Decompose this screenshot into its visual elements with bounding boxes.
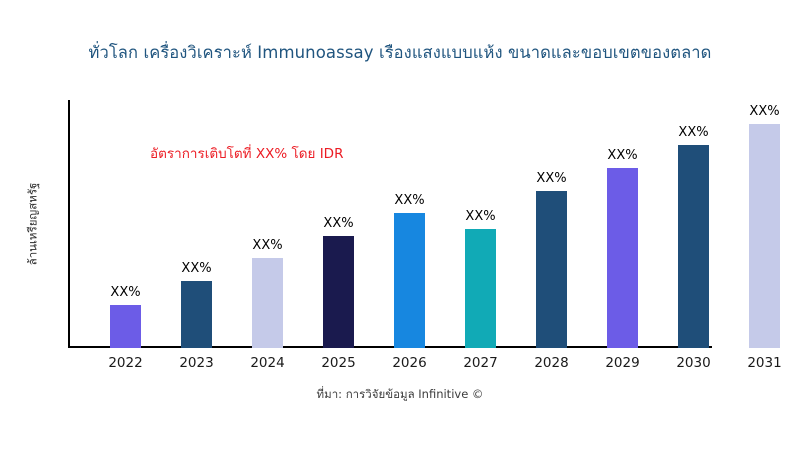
x-tick-2022: 2022 bbox=[96, 355, 156, 371]
x-tick-2027: 2027 bbox=[451, 355, 511, 371]
bar-value-label-2027: XX% bbox=[465, 209, 495, 224]
y-axis-line bbox=[68, 100, 70, 348]
plot-area: อัตราการเติบโตที่ XX% โดย IDR XX%XX%XX%X… bbox=[68, 100, 780, 348]
bar-2026[interactable]: XX% bbox=[394, 213, 425, 348]
bar-value-label-2031: XX% bbox=[749, 104, 779, 119]
bar-value-label-2029: XX% bbox=[607, 148, 637, 163]
x-tick-2028: 2028 bbox=[522, 355, 582, 371]
bar-2023[interactable]: XX% bbox=[181, 281, 212, 348]
bar-2028[interactable]: XX% bbox=[536, 191, 567, 348]
growth-rate-annotation: อัตราการเติบโตที่ XX% โดย IDR bbox=[150, 142, 343, 164]
x-tick-2025: 2025 bbox=[309, 355, 369, 371]
bar-2027[interactable]: XX% bbox=[465, 229, 496, 348]
y-axis-label: ล้านเหรียญสหรัฐ bbox=[24, 183, 42, 266]
bar-2024[interactable]: XX% bbox=[252, 258, 283, 348]
x-tick-2024: 2024 bbox=[238, 355, 298, 371]
chart-title: ทั่วโลก เครื่องวิเคราะห์ Immunoassay เรื… bbox=[0, 40, 800, 66]
y-axis-label-wrapper: ล้านเหรียญสหรัฐ bbox=[18, 100, 48, 348]
bar-value-label-2025: XX% bbox=[323, 216, 353, 231]
x-tick-2023: 2023 bbox=[167, 355, 227, 371]
bar-2030[interactable]: XX% bbox=[678, 145, 709, 348]
source-note: ที่มา: การวิจัยข้อมูล Infinitive © bbox=[0, 386, 800, 404]
x-tick-2026: 2026 bbox=[380, 355, 440, 371]
bar-value-label-2023: XX% bbox=[181, 261, 211, 276]
bar-value-label-2022: XX% bbox=[110, 285, 140, 300]
bar-value-label-2030: XX% bbox=[678, 125, 708, 140]
x-tick-2030: 2030 bbox=[664, 355, 724, 371]
bar-2025[interactable]: XX% bbox=[323, 236, 354, 348]
bar-value-label-2028: XX% bbox=[536, 171, 566, 186]
x-tick-2029: 2029 bbox=[593, 355, 653, 371]
bar-chart-figure: ทั่วโลก เครื่องวิเคราะห์ Immunoassay เรื… bbox=[0, 0, 800, 450]
bar-value-label-2024: XX% bbox=[252, 238, 282, 253]
bar-2031[interactable]: XX% bbox=[749, 124, 780, 348]
bar-2029[interactable]: XX% bbox=[607, 168, 638, 348]
bar-value-label-2026: XX% bbox=[394, 193, 424, 208]
x-tick-2031: 2031 bbox=[735, 355, 795, 371]
bar-2022[interactable]: XX% bbox=[110, 305, 141, 348]
